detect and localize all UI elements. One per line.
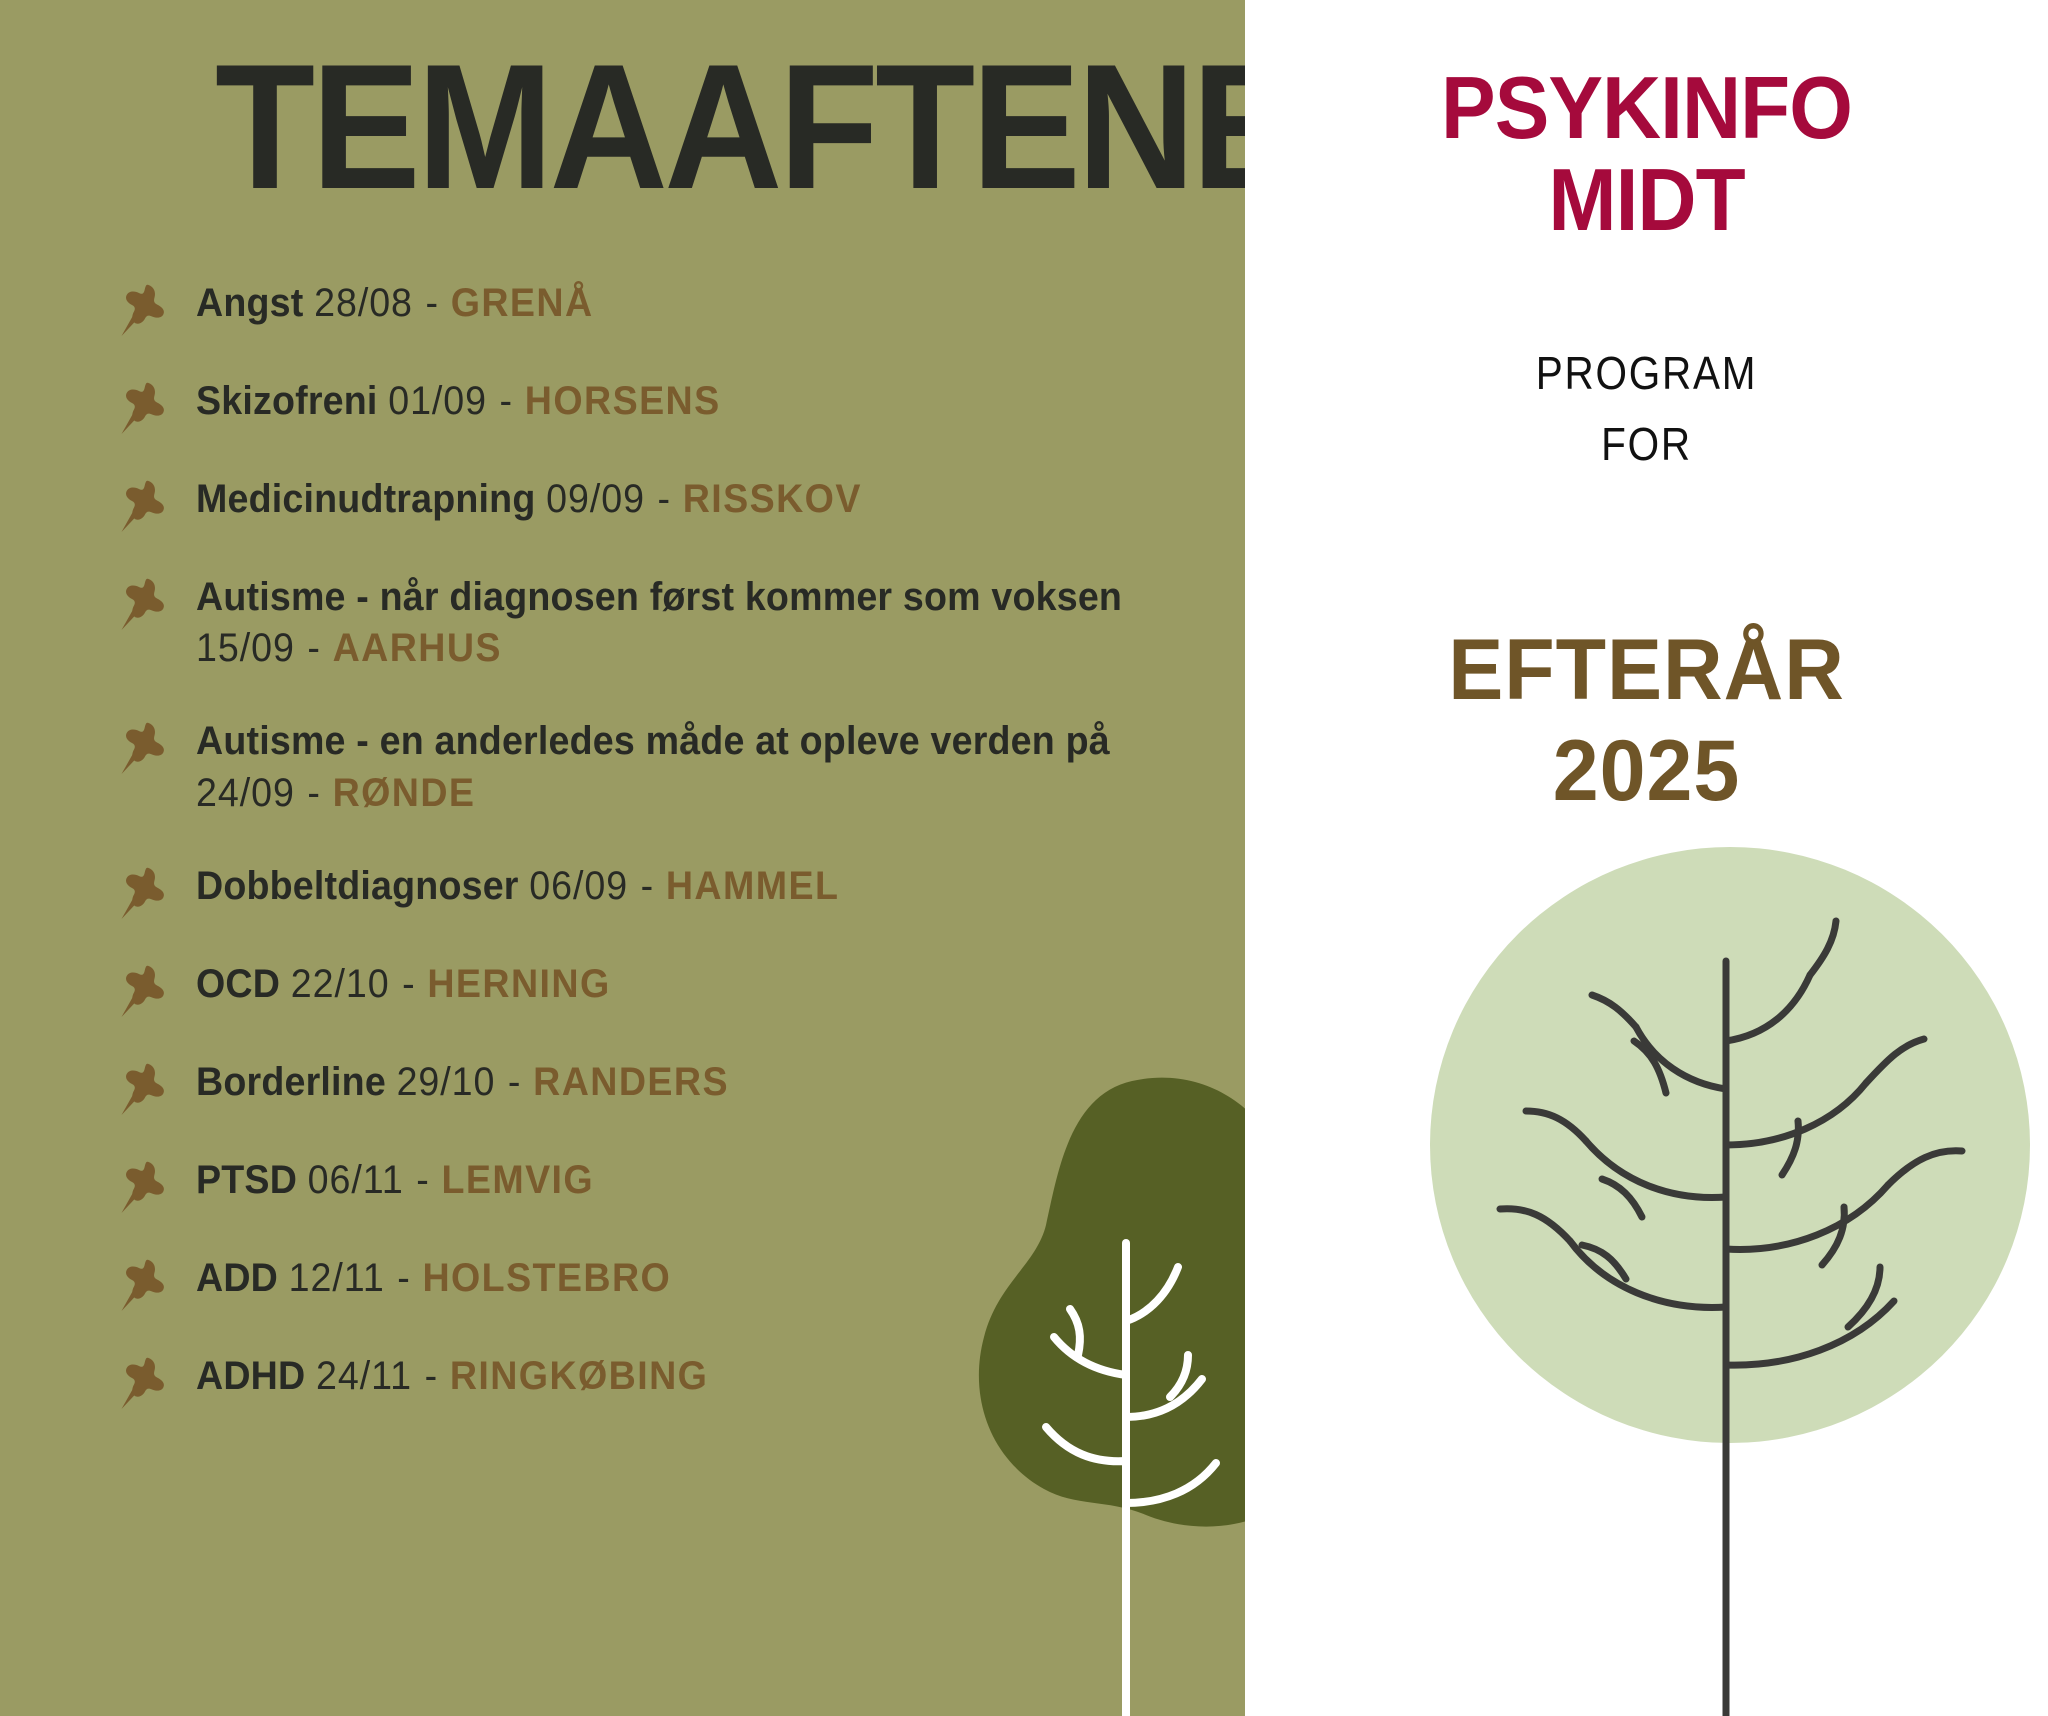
event-row[interactable]: Angst 28/08 - GRENÅ [118, 278, 1238, 338]
event-date: 24/11 [316, 1354, 412, 1398]
event-row[interactable]: ADHD 24/11 - RINGKØBING [118, 1351, 1238, 1411]
event-text: PTSD 06/11 - LEMVIG [196, 1155, 1175, 1206]
pushpin-icon [118, 478, 174, 534]
pushpin-icon [118, 576, 174, 632]
event-topic: Angst [196, 281, 303, 325]
pushpin-icon [118, 1355, 174, 1411]
event-text: ADHD 24/11 - RINGKØBING [196, 1351, 1175, 1402]
event-city: HORSENS [525, 379, 721, 423]
event-topic: Medicinudtrapning [196, 477, 535, 521]
event-row[interactable]: Skizofreni 01/09 - HORSENS [118, 376, 1238, 436]
event-date: 24/09 [196, 771, 295, 815]
event-separator: - [424, 281, 440, 325]
pushpin-icon [118, 380, 174, 436]
event-text: Skizofreni 01/09 - HORSENS [196, 376, 1175, 427]
event-text: OCD 22/10 - HERNING [196, 959, 1175, 1010]
event-separator: - [506, 1060, 522, 1104]
pushpin-icon [118, 720, 174, 776]
event-topic: PTSD [196, 1158, 297, 1202]
program-label: PROGRAM [1293, 338, 2000, 409]
event-text: ADD 12/11 - HOLSTEBRO [196, 1253, 1175, 1304]
event-date: 12/11 [289, 1256, 385, 1300]
event-separator: - [305, 771, 321, 815]
page-title: TEMAAFTENER [215, 38, 1412, 216]
event-row[interactable]: OCD 22/10 - HERNING [118, 959, 1238, 1019]
event-date: 15/09 [196, 626, 295, 670]
season-heading: EFTERÅR 2025 [1261, 620, 2032, 823]
event-date: 01/09 [388, 379, 487, 423]
pushpin-icon [118, 865, 174, 921]
event-date: 22/10 [291, 962, 390, 1006]
event-city: HOLSTEBRO [422, 1256, 671, 1300]
event-topic: Borderline [196, 1060, 386, 1104]
program-subtitle: PROGRAM FOR [1293, 338, 2000, 481]
year-label: 2025 [1261, 721, 2032, 822]
event-separator: - [400, 962, 416, 1006]
event-row[interactable]: Autisme - en anderledes måde at opleve v… [118, 716, 1238, 818]
season-label: EFTERÅR [1261, 620, 2032, 721]
event-separator: - [656, 477, 672, 521]
event-city: HAMMEL [666, 864, 839, 908]
event-row[interactable]: PTSD 06/11 - LEMVIG [118, 1155, 1238, 1215]
event-topic: ADD [196, 1256, 278, 1300]
event-separator: - [423, 1354, 439, 1398]
event-row[interactable]: Autisme - når diagnosen først kommer som… [118, 572, 1238, 674]
brand-line-2: MIDT [1273, 154, 2020, 246]
event-city: LEMVIG [441, 1158, 594, 1202]
event-list: Angst 28/08 - GRENÅSkizofreni 01/09 - HO… [118, 278, 1238, 1449]
event-topic: ADHD [196, 1354, 305, 1398]
event-row[interactable]: ADD 12/11 - HOLSTEBRO [118, 1253, 1238, 1313]
event-row[interactable]: Dobbeltdiagnoser 06/09 - HAMMEL [118, 861, 1238, 921]
event-topic: Skizofreni [196, 379, 378, 423]
event-date: 28/08 [314, 281, 413, 325]
event-topic: Dobbeltdiagnoser [196, 864, 519, 908]
event-city: AARHUS [333, 626, 502, 670]
pushpin-icon [118, 1257, 174, 1313]
event-row[interactable]: Borderline 29/10 - RANDERS [118, 1057, 1238, 1117]
event-topic: Autisme - når diagnosen først kommer som… [196, 575, 1122, 619]
event-date: 06/11 [308, 1158, 404, 1202]
for-label: FOR [1293, 409, 2000, 480]
pushpin-icon [118, 963, 174, 1019]
event-separator: - [498, 379, 514, 423]
event-city: RØNDE [333, 771, 476, 815]
event-city: RISSKOV [683, 477, 862, 521]
event-text: Medicinudtrapning 09/09 - RISSKOV [196, 474, 1175, 525]
brand-line-1: PSYKINFO [1441, 58, 1852, 157]
sidebar-panel: PSYKINFO MIDT PROGRAM FOR EFTERÅR 2025 [1245, 0, 2048, 1716]
pushpin-icon [118, 1159, 174, 1215]
poster-canvas: TEMAAFTENER Angst 28/08 - GRENÅSkizofren… [0, 0, 2048, 1716]
event-city: HERNING [427, 962, 610, 1006]
event-text: Borderline 29/10 - RANDERS [196, 1057, 1175, 1108]
brand-logo: PSYKINFO MIDT [1273, 62, 2020, 247]
pushpin-icon [118, 282, 174, 338]
event-date: 09/09 [546, 477, 645, 521]
event-text: Dobbeltdiagnoser 06/09 - HAMMEL [196, 861, 1175, 912]
event-topic: OCD [196, 962, 280, 1006]
event-date: 29/10 [397, 1060, 496, 1104]
event-city: GRENÅ [451, 281, 594, 325]
event-text: Autisme - når diagnosen først kommer som… [196, 572, 1175, 674]
event-city: RINGKØBING [450, 1354, 709, 1398]
event-separator: - [395, 1256, 411, 1300]
event-city: RANDERS [533, 1060, 729, 1104]
pushpin-icon [118, 1061, 174, 1117]
event-separator: - [414, 1158, 430, 1202]
event-topic: Autisme - en anderledes måde at opleve v… [196, 719, 1110, 763]
event-separator: - [305, 626, 321, 670]
event-date: 06/09 [529, 864, 628, 908]
event-text: Autisme - en anderledes måde at opleve v… [196, 716, 1175, 818]
event-separator: - [639, 864, 655, 908]
event-text: Angst 28/08 - GRENÅ [196, 278, 1175, 329]
event-row[interactable]: Medicinudtrapning 09/09 - RISSKOV [118, 474, 1238, 534]
